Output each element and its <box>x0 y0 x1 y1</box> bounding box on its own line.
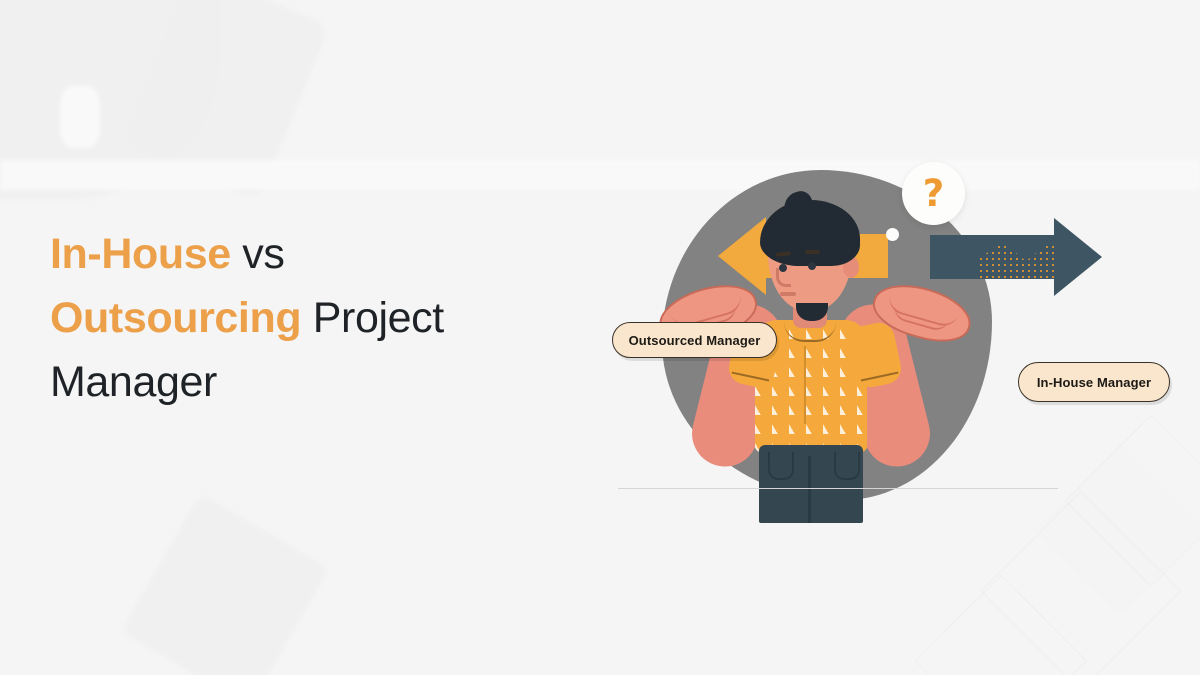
right-eyebrow <box>805 250 820 255</box>
title-line-2: Outsourcing Project <box>50 286 570 350</box>
left-sleeve-cuff <box>732 372 770 382</box>
right-eye <box>808 262 816 270</box>
bg-shape-3 <box>120 0 330 201</box>
bg-shape-1 <box>0 0 220 200</box>
bg-shape-2 <box>60 86 100 148</box>
bg-hexagon-3 <box>915 575 1088 675</box>
thought-bubble-icon: ? <box>902 162 965 225</box>
bg-shape-6 <box>120 493 330 675</box>
thought-bubble-dot <box>886 228 899 241</box>
illustration: ¿ ¿ ? <box>600 140 1170 530</box>
title-line-3: Manager <box>50 350 570 414</box>
shirt-fold <box>804 346 806 424</box>
title-plain-project: Project <box>301 294 444 342</box>
pants-seam <box>808 456 811 523</box>
badge-in-house-manager[interactable]: In-House Manager <box>1018 362 1170 402</box>
title-accent-in-house: In-House <box>50 230 231 278</box>
mouth <box>780 292 796 296</box>
title-line-1: In-House vs <box>50 222 570 286</box>
title-plain-manager: Manager <box>50 358 217 406</box>
right-pocket <box>834 452 860 480</box>
badge-in-house-manager-label: In-House Manager <box>1037 375 1151 390</box>
right-sleeve-cuff <box>861 372 899 382</box>
badge-outsourced-manager-label: Outsourced Manager <box>629 333 761 348</box>
thought-bubble-question-mark: ? <box>923 175 944 212</box>
page-title: In-House vs Outsourcing Project Manager <box>50 222 570 414</box>
left-pocket <box>768 452 794 480</box>
nose <box>776 268 791 287</box>
badge-outsourced-manager[interactable]: Outsourced Manager <box>612 322 777 358</box>
banner-root: In-House vs Outsourcing Project Manager … <box>0 0 1200 675</box>
title-plain-vs: vs <box>231 230 285 278</box>
title-accent-outsourcing: Outsourcing <box>50 294 301 342</box>
ground-line <box>618 488 1058 489</box>
